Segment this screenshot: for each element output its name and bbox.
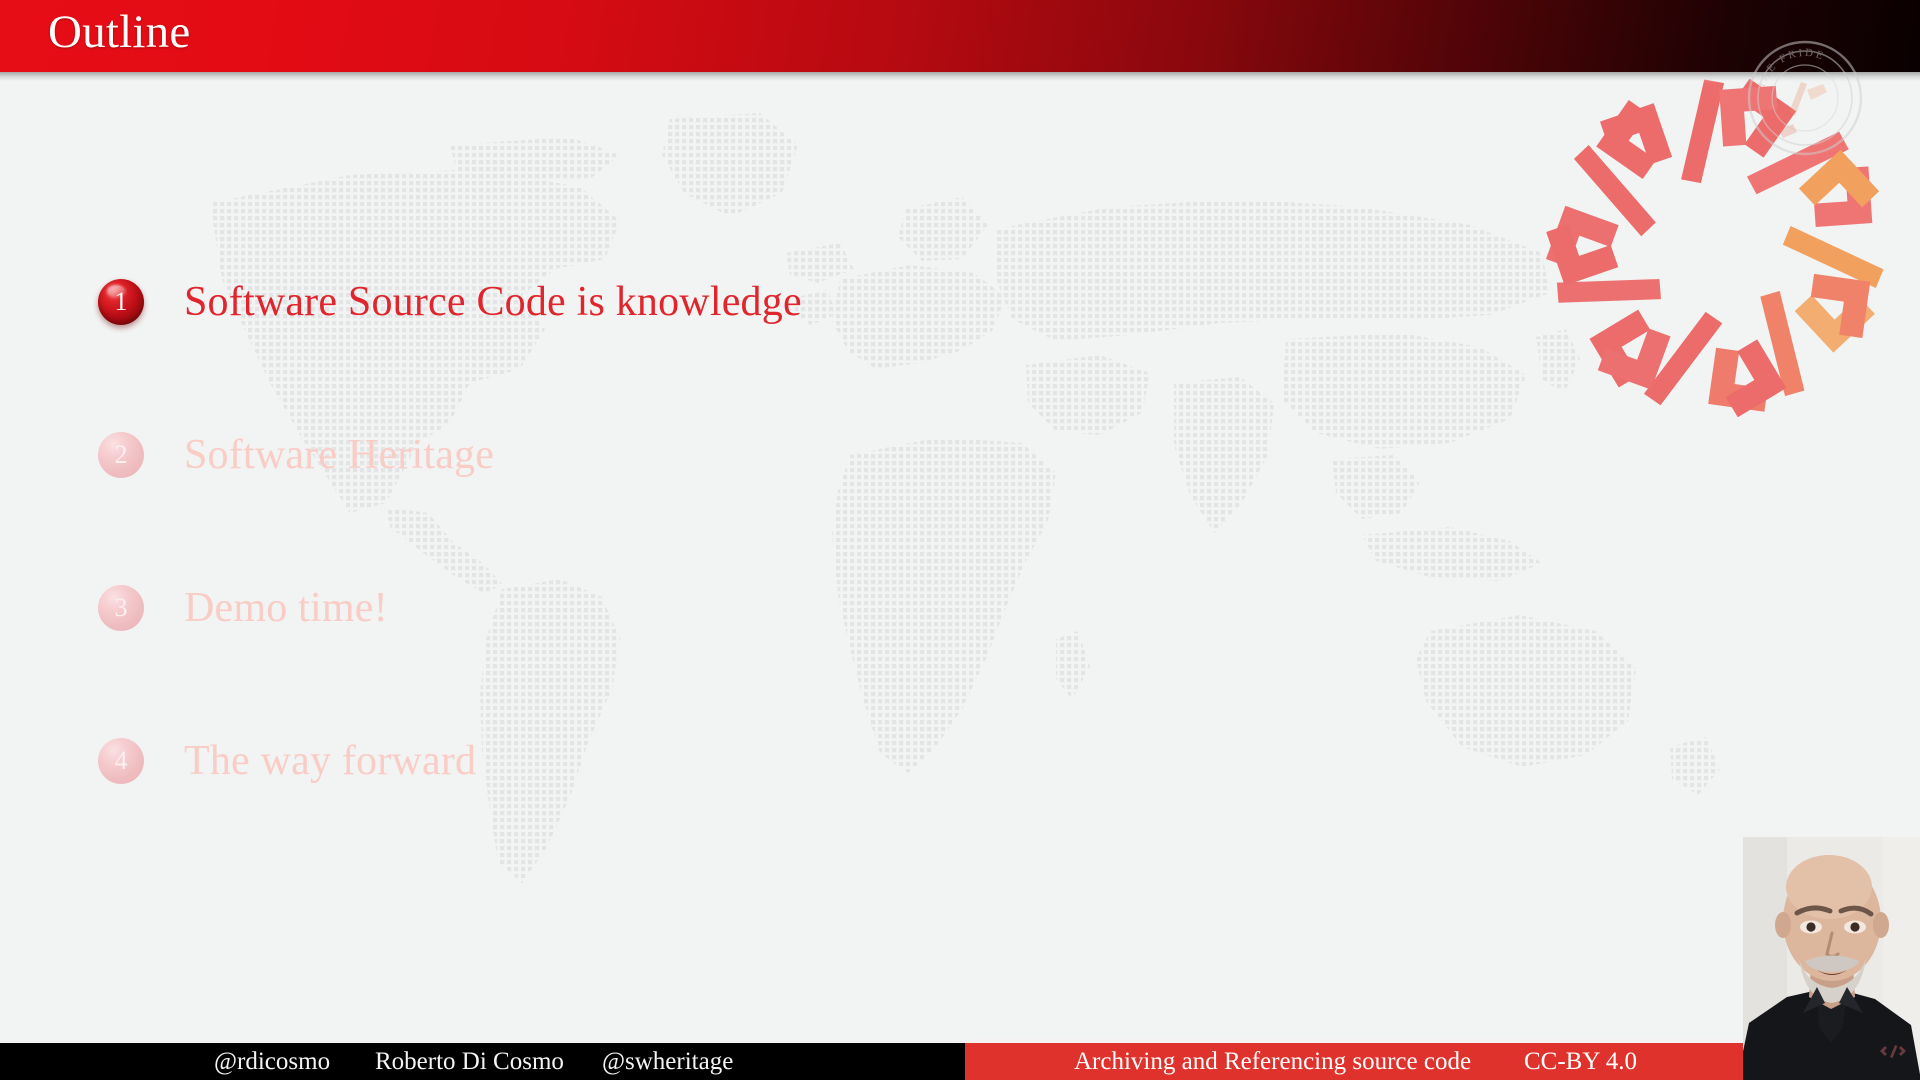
presenter-webcam [1743,837,1920,1080]
outline-bullet-4: 4 [98,738,144,784]
outline-item-1[interactable]: 1 Software Source Code is knowledge [98,272,1198,332]
outline-bullet-2: 2 [98,432,144,478]
presentation-slide: Outline IAE FRIDE 1 Software Source Code… [0,0,1920,1080]
footer-license[interactable]: CC-BY 4.0 [1524,1043,1637,1080]
footer-author-handle[interactable]: @rdicosmo [214,1043,330,1080]
footer-project-handle[interactable]: @swheritage [602,1043,733,1080]
outline-label-4: The way forward [184,737,476,785]
header-shadow [0,72,1920,83]
outline-item-3[interactable]: 3 Demo time! [98,578,1198,638]
outline-item-4[interactable]: 4 The way forward [98,731,1198,791]
outline-item-2[interactable]: 2 Software Heritage [98,425,1198,485]
outline-bullet-1: 1 [98,279,144,325]
page-title: Outline [48,5,190,59]
outline-label-3: Demo time! [184,584,388,632]
outline-label-2: Software Heritage [184,431,494,479]
presenter-video-frame [1743,837,1920,1080]
outline-label-1: Software Source Code is knowledge [184,278,802,326]
outline-bullet-3: 3 [98,585,144,631]
university-seal-icon: IAE FRIDE [1745,38,1865,158]
footer-author-name: Roberto Di Cosmo [375,1043,564,1080]
slide-footer: @rdicosmo Roberto Di Cosmo @swheritage A… [0,1043,1920,1080]
outline-list: 1 Software Source Code is knowledge 2 So… [98,272,1198,791]
footer-talk-title: Archiving and Referencing source code [1074,1043,1471,1080]
slide-header: Outline [0,0,1920,72]
